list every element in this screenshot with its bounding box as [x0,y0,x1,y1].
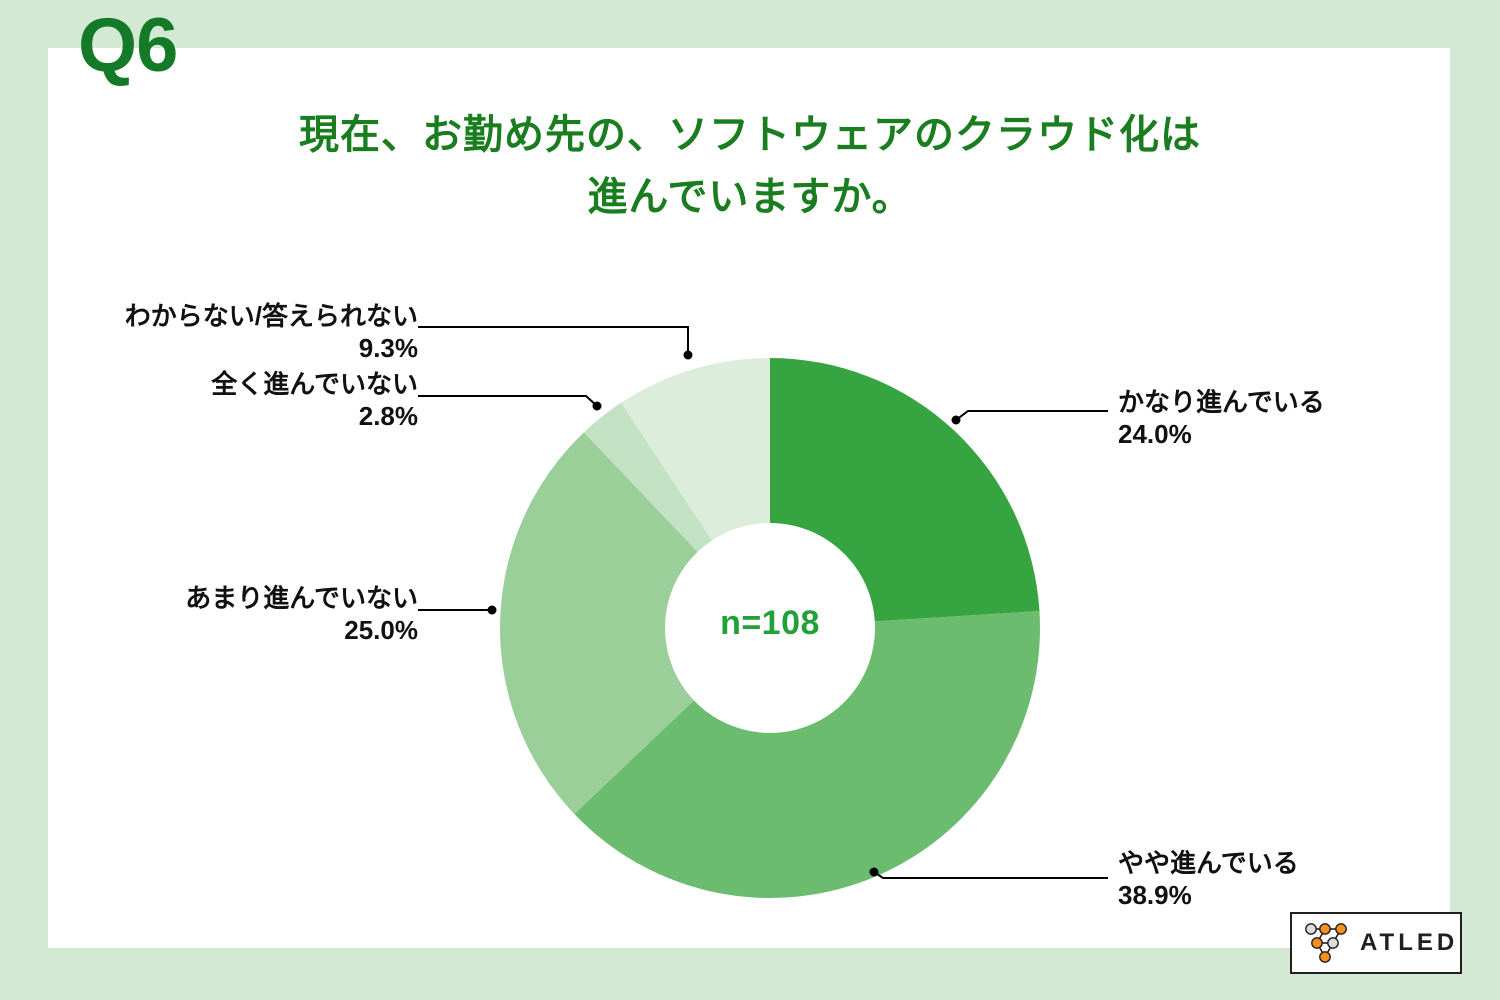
question-number-badge: Q6 [78,8,177,84]
callout-kanari-value: 24.0% [1118,418,1325,450]
sample-size-label: n=108 [670,604,870,643]
atled-logo[interactable]: ATLED [1290,912,1462,974]
callout-wakaranai-value: 9.3% [88,332,418,364]
callout-yaya-label: やや進んでいる [1118,848,1299,878]
callout-kanari: かなり進んでいる 24.0% [1118,386,1325,450]
page-title-line-2: 進んでいますか。 [150,166,1350,228]
callout-mattaku-label: 全く進んでいない [211,369,418,399]
callout-amari-value: 25.0% [88,614,418,646]
callout-yaya-value: 38.9% [1118,879,1299,911]
callout-amari: あまり進んでいない 25.0% [88,582,418,646]
atled-logo-text: ATLED [1360,929,1458,957]
callout-yaya: やや進んでいる 38.9% [1118,847,1299,911]
page-title-line-1: 現在、お勤め先の、ソフトウェアのクラウド化は [150,104,1350,166]
callout-amari-label: あまり進んでいない [185,583,418,613]
callout-mattaku: 全く進んでいない 2.8% [88,368,418,432]
page-title: 現在、お勤め先の、ソフトウェアのクラウド化は 進んでいますか。 [150,104,1350,228]
callout-kanari-label: かなり進んでいる [1118,387,1325,417]
slide-root: Q6 現在、お勤め先の、ソフトウェアのクラウド化は 進んでいますか。 [0,0,1500,1000]
atled-network-icon [1300,920,1352,966]
callout-wakaranai: わからない/答えられない 9.3% [88,300,418,364]
callout-wakaranai-label: わからない/答えられない [125,301,418,331]
callout-mattaku-value: 2.8% [88,400,418,432]
